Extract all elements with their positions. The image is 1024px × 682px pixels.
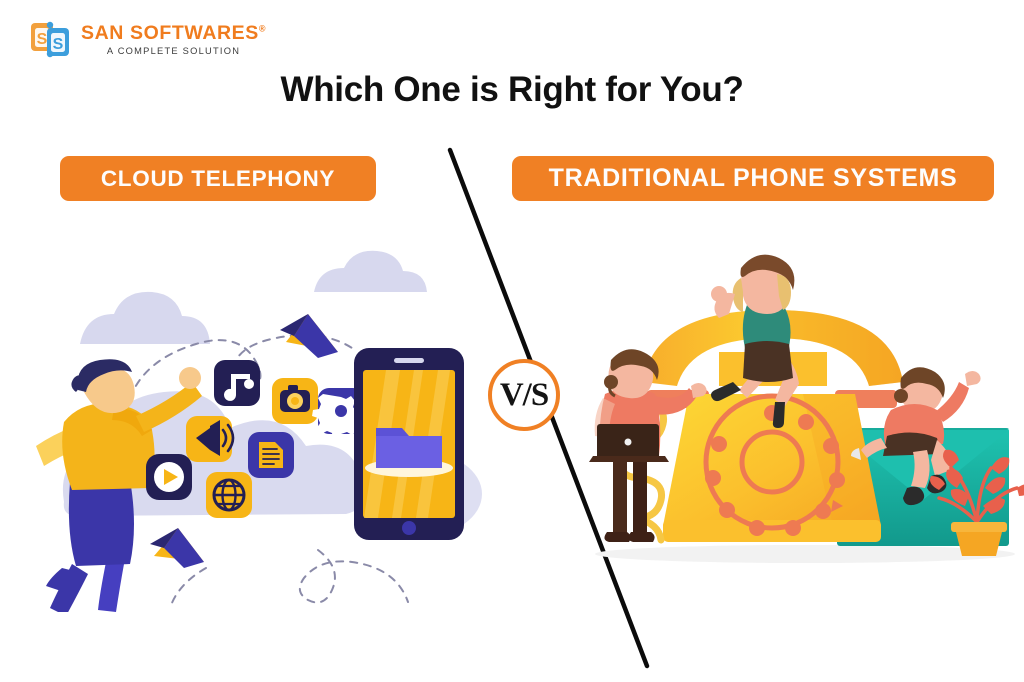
poster-canvas: S S SAN SOFTWARES® A COMPLETE SOLUTION W… bbox=[0, 0, 1024, 682]
paper-plane-bottom bbox=[150, 528, 204, 568]
brand-wordmark: SAN SOFTWARES® A COMPLETE SOLUTION bbox=[81, 22, 266, 57]
versus-label: V/S bbox=[500, 379, 548, 412]
brand-name: SAN SOFTWARES® bbox=[81, 24, 266, 44]
svg-text:S: S bbox=[37, 31, 48, 48]
traditional-phone-illustration bbox=[585, 232, 1024, 582]
chip-cloud-telephony-label: CLOUD TELEPHONY bbox=[101, 166, 335, 192]
app-icon-music-note bbox=[214, 360, 260, 406]
chip-cloud-telephony[interactable]: CLOUD TELEPHONY bbox=[60, 156, 376, 201]
app-icon-camera bbox=[272, 378, 318, 424]
svg-text:S: S bbox=[53, 36, 64, 53]
app-icon-document bbox=[248, 432, 294, 478]
page-title: Which One is Right for You? bbox=[0, 70, 1024, 110]
app-icon-play-button bbox=[146, 454, 192, 500]
chip-traditional-phone-systems[interactable]: TRADITIONAL PHONE SYSTEMS bbox=[512, 156, 994, 201]
cloud-telephony-svg bbox=[18, 232, 488, 612]
san-softwares-logo-mark: S S bbox=[30, 19, 72, 59]
app-icon-megaphone bbox=[186, 416, 233, 462]
versus-badge: V/S bbox=[488, 359, 560, 431]
app-icon-globe bbox=[206, 472, 252, 518]
cloud-telephony-illustration bbox=[18, 232, 488, 612]
brand-name-text: SAN SOFTWARES bbox=[81, 22, 259, 44]
registered-mark: ® bbox=[259, 23, 266, 33]
brand-tagline: A COMPLETE SOLUTION bbox=[81, 47, 266, 56]
chip-traditional-phone-systems-label: TRADITIONAL PHONE SYSTEMS bbox=[549, 164, 958, 193]
logo-mark-svg: S S bbox=[30, 19, 72, 59]
smartphone bbox=[354, 348, 464, 540]
traditional-phone-svg bbox=[585, 232, 1024, 582]
brand-logo: S S SAN SOFTWARES® A COMPLETE SOLUTION bbox=[30, 19, 266, 59]
paper-plane-top bbox=[280, 314, 338, 358]
